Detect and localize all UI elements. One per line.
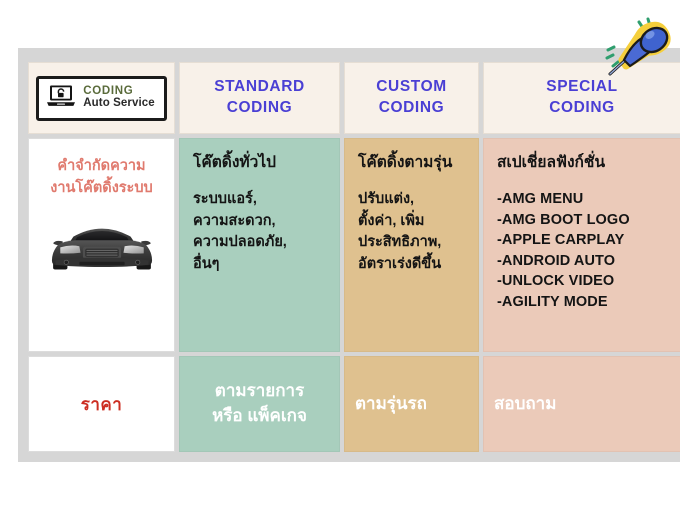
column-header-standard-line2: CODING [227,99,293,116]
definition-special-feature-list: -AMG MENU -AMG BOOT LOGO -APPLE CARPLAY … [497,189,668,312]
definition-special-heading: สเปเชี่ยลฟังก์ชั่น [497,153,668,173]
list-item: -UNLOCK VIDEO [497,271,668,292]
price-custom-cell: ตามรุ่นรถ [344,356,479,452]
service-comparison-table: CODING Auto Service STANDARD CODING CUST… [28,62,669,452]
list-item: -ANDROID AUTO [497,251,668,272]
column-header-standard-label: STANDARD CODING [214,77,305,119]
brand-logo: CODING Auto Service [36,76,167,121]
list-item: -AGILITY MODE [497,292,668,313]
brand-logo-cell: CODING Auto Service [28,62,175,134]
column-header-standard: STANDARD CODING [179,62,340,134]
definition-custom-heading: โค๊ตดิ้งตามรุ่น [358,153,466,173]
definition-standard-cell: โค๊ตดิ้งทั่วไป ระบบแอร์, ความสะดวก, ความ… [179,138,340,352]
brand-logo-line2: Auto Service [83,98,155,110]
column-header-custom-line2: CODING [379,99,445,116]
definition-standard-heading: โค๊ตดิ้งทั่วไป [193,153,327,173]
definition-custom-cell: โค๊ตดิ้งตามรุ่น ปรับแต่ง, ตั้งค่า, เพิ่ม… [344,138,479,352]
column-header-custom-label: CUSTOM CODING [376,77,446,119]
price-row-label-cell: ราคา [28,356,175,452]
price-special-value: สอบถาม [484,392,680,417]
column-header-custom: CUSTOM CODING [344,62,479,134]
mercedes-sedan-front-icon [42,214,162,276]
list-item: -APPLE CARPLAY [497,230,668,251]
definition-custom-detail: ปรับแต่ง, ตั้งค่า, เพิ่ม ประสิทธิภาพ, อั… [358,189,466,275]
laptop-padlock-icon [46,84,76,113]
definition-row-label-cell: คำจำกัดความ งานโค๊ตดิ้งระบบ [28,138,175,352]
column-header-standard-line1: STANDARD [214,78,305,95]
definition-row-label: คำจำกัดความ งานโค๊ตดิ้งระบบ [50,155,153,200]
price-custom-value: ตามรุ่นรถ [345,392,478,417]
column-header-special-label: SPECIAL CODING [546,77,617,119]
price-standard-cell: ตามรายการ หรือ แพ็คเกจ [179,356,340,452]
definition-special-cell: สเปเชี่ยลฟังก์ชั่น -AMG MENU -AMG BOOT L… [483,138,680,352]
price-standard-value: ตามรายการ หรือ แพ็คเกจ [212,379,307,428]
list-item: -AMG MENU [497,189,668,210]
price-special-cell: สอบถาม [483,356,680,452]
brand-logo-wordmark: CODING Auto Service [83,86,155,110]
column-header-custom-line1: CUSTOM [376,78,446,95]
column-header-special-line2: CODING [549,99,615,116]
price-row-label: ราคา [81,391,123,418]
column-header-special-line1: SPECIAL [546,78,617,95]
list-item: -AMG BOOT LOGO [497,210,668,231]
column-header-special: SPECIAL CODING [483,62,680,134]
definition-standard-detail: ระบบแอร์, ความสะดวก, ความปลอดภัย, อื่นๆ [193,189,327,275]
